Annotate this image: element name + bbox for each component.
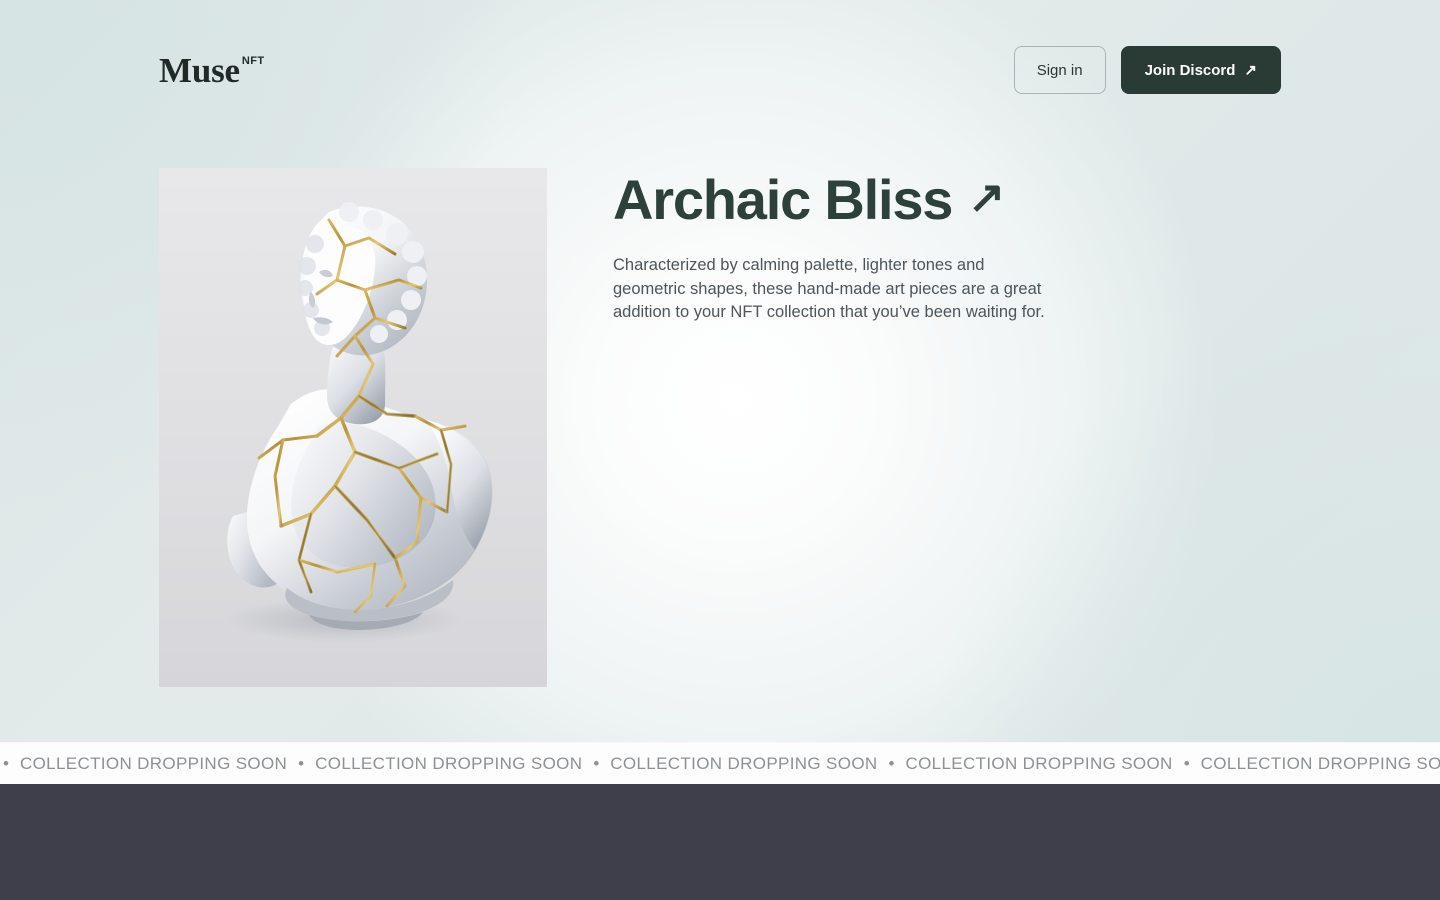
ticker-separator-dot: • [287, 754, 315, 774]
collection-description: Characterized by calming palette, lighte… [613, 254, 1045, 323]
footer-block [0, 784, 1440, 900]
brand-logo[interactable]: Muse NFT [159, 53, 264, 88]
ticker-item: COLLECTION DROPPING SOON [315, 754, 582, 774]
ticker-item: COLLECTION DROPPING SOON [905, 754, 1172, 774]
brand-logo-superscript: NFT [242, 55, 265, 67]
hero-copy: Archaic Bliss ↗ Characterized by calming… [613, 168, 1045, 687]
announcement-ticker: •COLLECTION DROPPING SOON•COLLECTION DRO… [0, 742, 1440, 784]
ticker-separator-dot: • [1173, 754, 1201, 774]
ticker-item: COLLECTION DROPPING SOON [1201, 754, 1440, 774]
ticker-separator-dot: • [582, 754, 610, 774]
ticker-item: COLLECTION DROPPING SOON [20, 754, 287, 774]
join-discord-label: Join Discord [1145, 62, 1236, 79]
ticker-item: COLLECTION DROPPING SOON [610, 754, 877, 774]
landing-page: Muse NFT Sign in Join Discord ↗ [0, 0, 1440, 900]
brand-logo-word: Muse [159, 53, 240, 88]
ticker-separator-dot: • [878, 754, 906, 774]
header-actions: Sign in Join Discord ↗ [1014, 46, 1281, 94]
collection-title-text: Archaic Bliss [613, 170, 952, 230]
site-header: Muse NFT Sign in Join Discord ↗ [0, 0, 1440, 140]
sign-in-button[interactable]: Sign in [1014, 46, 1106, 94]
bust-sculpture-illustration [159, 168, 547, 687]
join-discord-button[interactable]: Join Discord ↗ [1121, 46, 1281, 94]
hero-section: Archaic Bliss ↗ Characterized by calming… [159, 168, 1281, 687]
arrow-up-right-icon: ↗ [1244, 63, 1257, 78]
arrow-up-right-icon: ↗ [968, 176, 1004, 220]
collection-artwork[interactable] [159, 168, 547, 687]
ticker-track: •COLLECTION DROPPING SOON•COLLECTION DRO… [0, 754, 1440, 774]
collection-title[interactable]: Archaic Bliss ↗ [613, 170, 1045, 230]
ticker-separator-dot: • [0, 754, 20, 774]
